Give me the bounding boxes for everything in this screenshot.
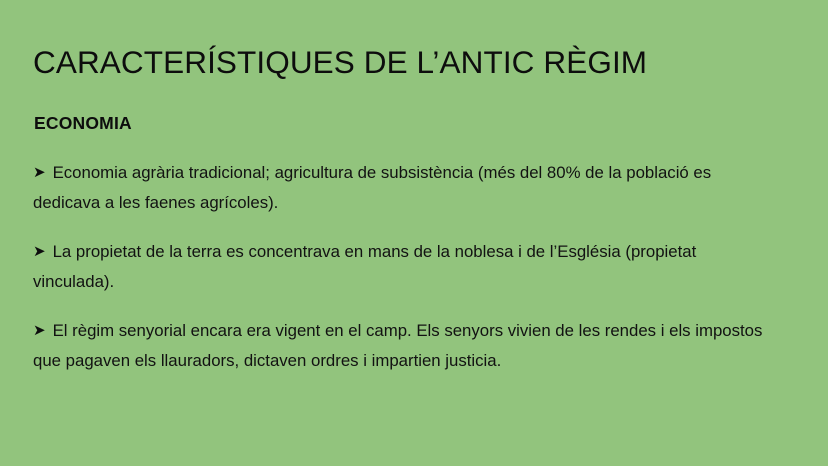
bullet-list: ➤Economia agrària tradicional; agricultu…	[33, 158, 781, 375]
section-heading-economia: ECONOMIA	[34, 112, 132, 134]
page-title: CARACTERÍSTIQUES DE L’ANTIC RÈGIM	[33, 43, 647, 81]
list-item: ➤El règim senyorial encara era vigent en…	[33, 316, 781, 375]
arrow-bullet-icon: ➤	[33, 237, 46, 266]
list-item-text: El règim senyorial encara era vigent en …	[33, 321, 762, 370]
list-item: ➤La propietat de la terra es concentrava…	[33, 237, 781, 296]
list-item-text: La propietat de la terra es concentrava …	[33, 242, 696, 291]
arrow-bullet-icon: ➤	[33, 316, 46, 345]
arrow-bullet-icon: ➤	[33, 158, 46, 187]
list-item-text: Economia agrària tradicional; agricultur…	[33, 163, 711, 212]
list-item: ➤Economia agrària tradicional; agricultu…	[33, 158, 781, 217]
presentation-slide: CARACTERÍSTIQUES DE L’ANTIC RÈGIM ECONOM…	[0, 0, 828, 466]
